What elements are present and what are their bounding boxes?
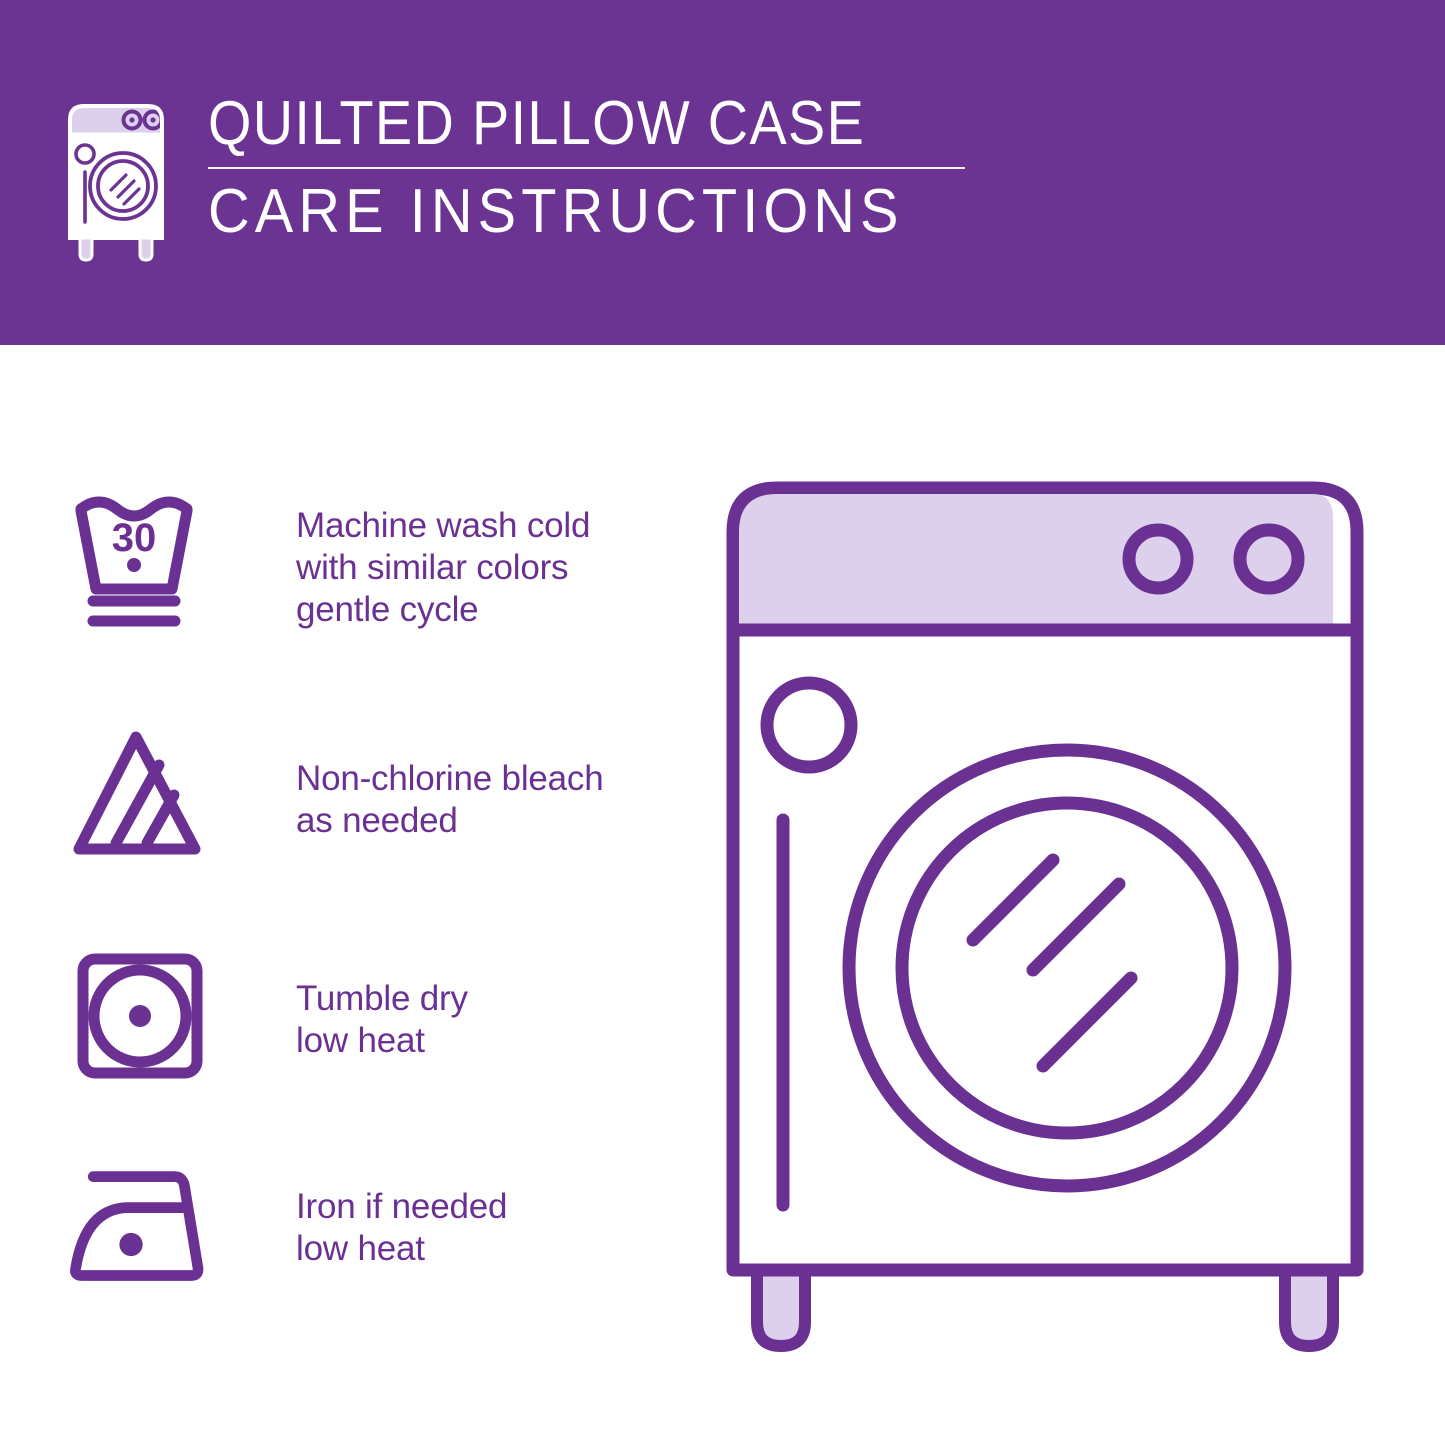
washer-dial-left xyxy=(1129,530,1187,588)
care-label-line: low heat xyxy=(296,1020,468,1062)
care-row-tumble-dry: Tumble dry low heat xyxy=(68,945,688,1095)
washer-dial-right xyxy=(1240,530,1298,588)
care-label-tumble-dry: Tumble dry low heat xyxy=(296,978,468,1062)
page-title: QUILTED PILLOW CASE xyxy=(208,92,975,156)
title-divider xyxy=(208,167,965,169)
header-band: QUILTED PILLOW CASE CARE INSTRUCTIONS xyxy=(0,0,1445,345)
machine-wash-30-gentle-symbol: 30 xyxy=(68,493,228,643)
washing-machine-icon xyxy=(60,98,182,263)
washer-leg-right xyxy=(1285,1270,1333,1346)
care-label-line: as needed xyxy=(296,800,604,842)
care-row-iron: Iron if needed low heat xyxy=(68,1153,688,1303)
non-chlorine-bleach-symbol xyxy=(68,725,228,875)
header-content: QUILTED PILLOW CASE CARE INSTRUCTIONS xyxy=(60,90,1060,265)
page-subtitle: CARE INSTRUCTIONS xyxy=(208,179,1000,245)
washer-leg-left xyxy=(757,1270,805,1346)
iron-low-heat-symbol xyxy=(68,1153,228,1303)
care-label-bleach: Non-chlorine bleach as needed xyxy=(296,758,604,842)
care-label-line: Iron if needed xyxy=(296,1186,507,1228)
care-row-bleach: Non-chlorine bleach as needed xyxy=(68,725,688,875)
header-title-group: QUILTED PILLOW CASE CARE INSTRUCTIONS xyxy=(208,90,1060,245)
tumble-dry-low-symbol xyxy=(68,945,228,1095)
care-label-iron: Iron if needed low heat xyxy=(296,1186,507,1270)
care-label-line: Machine wash cold xyxy=(296,505,590,547)
care-label-line: with similar colors xyxy=(296,547,590,589)
care-instructions-infographic: QUILTED PILLOW CASE CARE INSTRUCTIONS 30… xyxy=(0,0,1445,1445)
care-row-machine-wash: 30 Machine wash cold with similar colors… xyxy=(68,493,688,643)
care-label-machine-wash: Machine wash cold with similar colors ge… xyxy=(296,505,590,631)
care-instruction-list: 30 Machine wash cold with similar colors… xyxy=(0,345,700,1445)
wash-temperature-value: 30 xyxy=(111,516,156,560)
care-label-line: Non-chlorine bleach xyxy=(296,758,604,800)
front-load-washing-machine-illustration xyxy=(715,470,1395,1380)
care-label-line: Tumble dry xyxy=(296,978,468,1020)
care-label-line: low heat xyxy=(296,1228,507,1270)
care-label-line: gentle cycle xyxy=(296,589,590,631)
